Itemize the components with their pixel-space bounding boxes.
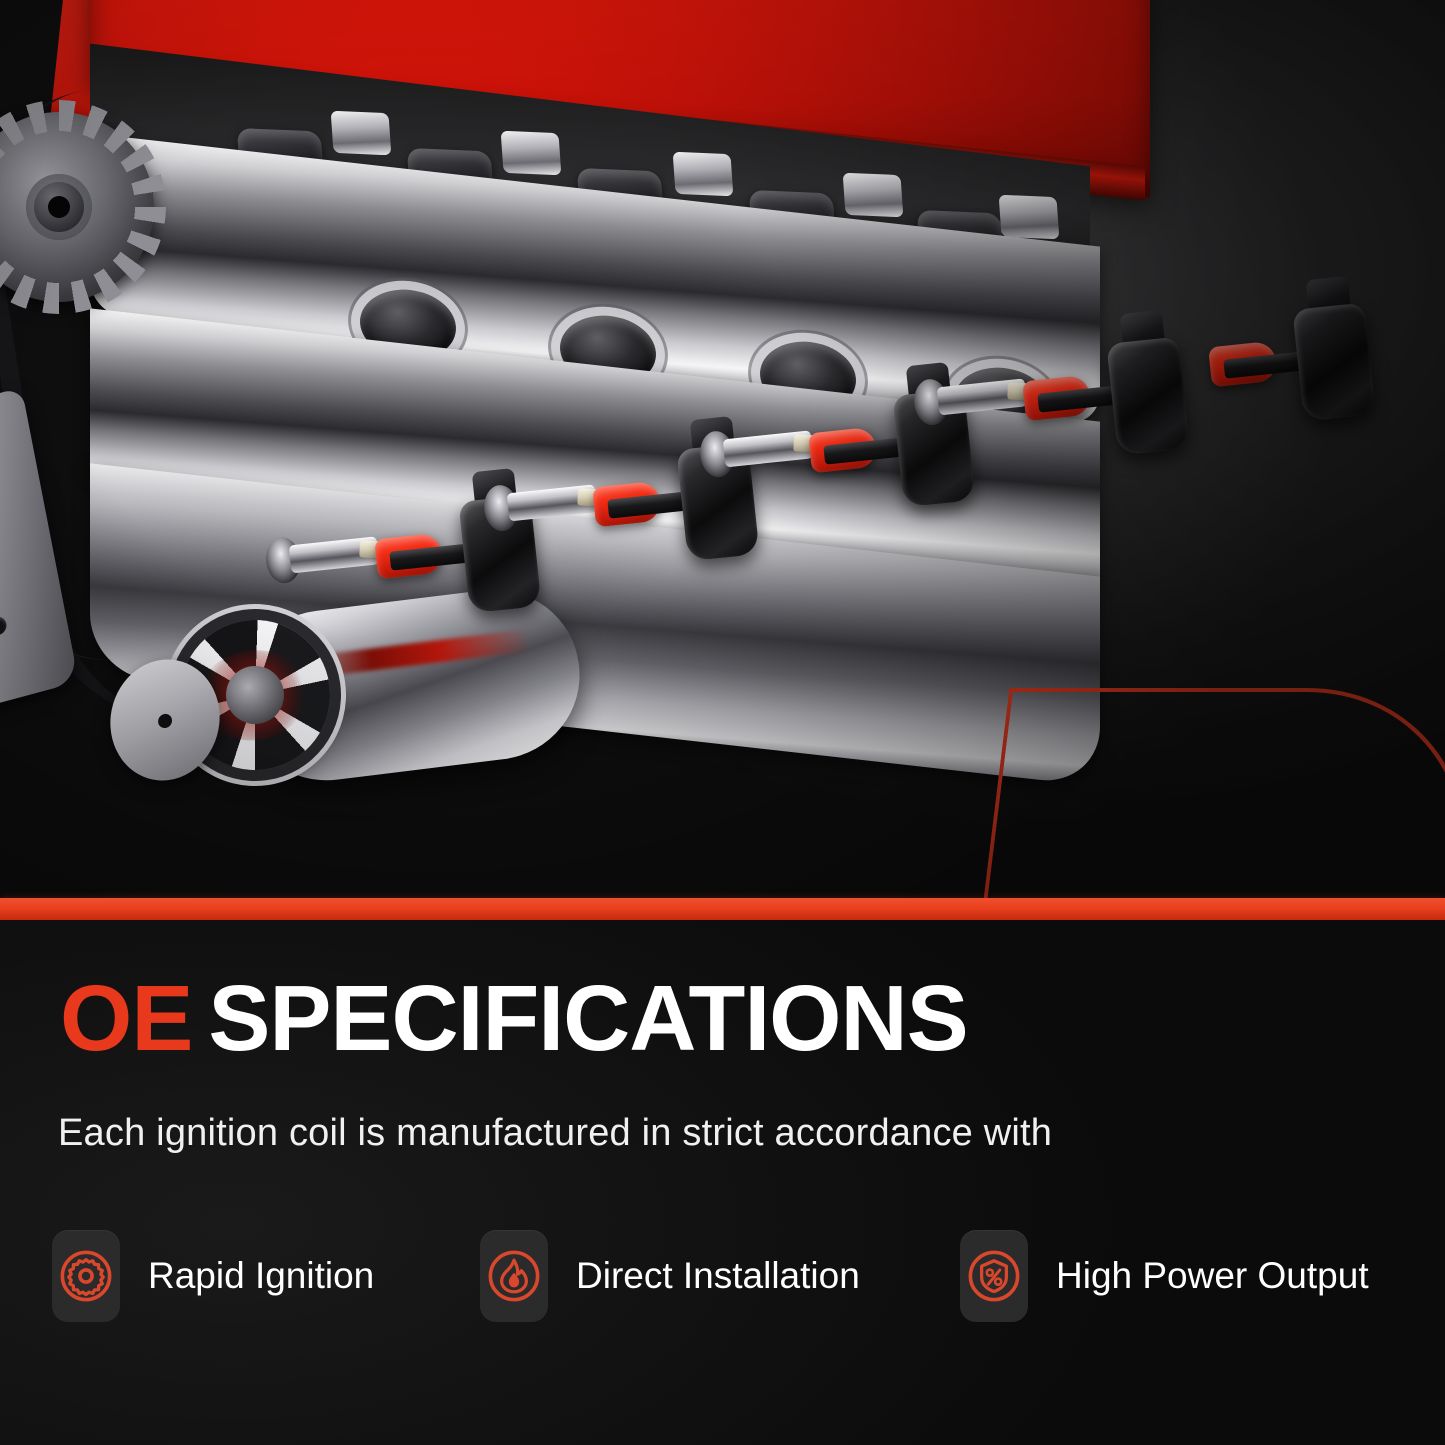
ignition-coil [1212, 300, 1445, 420]
bearing-cap [843, 173, 904, 218]
bearing-cap [331, 111, 392, 156]
bearing-cap [673, 152, 734, 197]
bearing-cap [501, 131, 562, 176]
feature-item-direct-installation: Direct Installation [480, 1230, 960, 1322]
coil-body [1106, 337, 1189, 456]
sprocket-hub [26, 174, 92, 240]
icon-tile [960, 1230, 1028, 1322]
gear-icon [59, 1249, 113, 1303]
headline-highlight: OE [60, 966, 192, 1070]
shield-percent-icon [967, 1249, 1021, 1303]
feature-item-rapid-ignition: Rapid Ignition [52, 1230, 480, 1322]
feature-item-high-power-output: High Power Output [960, 1230, 1420, 1322]
engine-hero-image [0, 0, 1445, 898]
timing-sprocket [0, 112, 154, 302]
product-feature-poster: OESPECIFICATIONS Each ignition coil is m… [0, 0, 1445, 1445]
subtitle: Each ignition coil is manufactured in st… [58, 1112, 1052, 1155]
icon-tile [52, 1230, 120, 1322]
red-arc-outline [983, 688, 1445, 898]
feature-label: High Power Output [1056, 1255, 1369, 1297]
feature-label: Rapid Ignition [148, 1255, 374, 1297]
filter-red-reflection [302, 629, 533, 679]
coil-body [1292, 303, 1375, 422]
bearing-cap [999, 195, 1060, 240]
headline-rest: SPECIFICATIONS [208, 966, 967, 1070]
copy-panel: OESPECIFICATIONS Each ignition coil is m… [0, 920, 1445, 1445]
feature-list: Rapid Ignition Direct Installation [52, 1230, 1432, 1322]
feature-label: Direct Installation [576, 1255, 860, 1297]
page-title: OESPECIFICATIONS [60, 972, 968, 1065]
accent-divider [0, 898, 1445, 920]
icon-tile [480, 1230, 548, 1322]
flame-icon [487, 1249, 541, 1303]
